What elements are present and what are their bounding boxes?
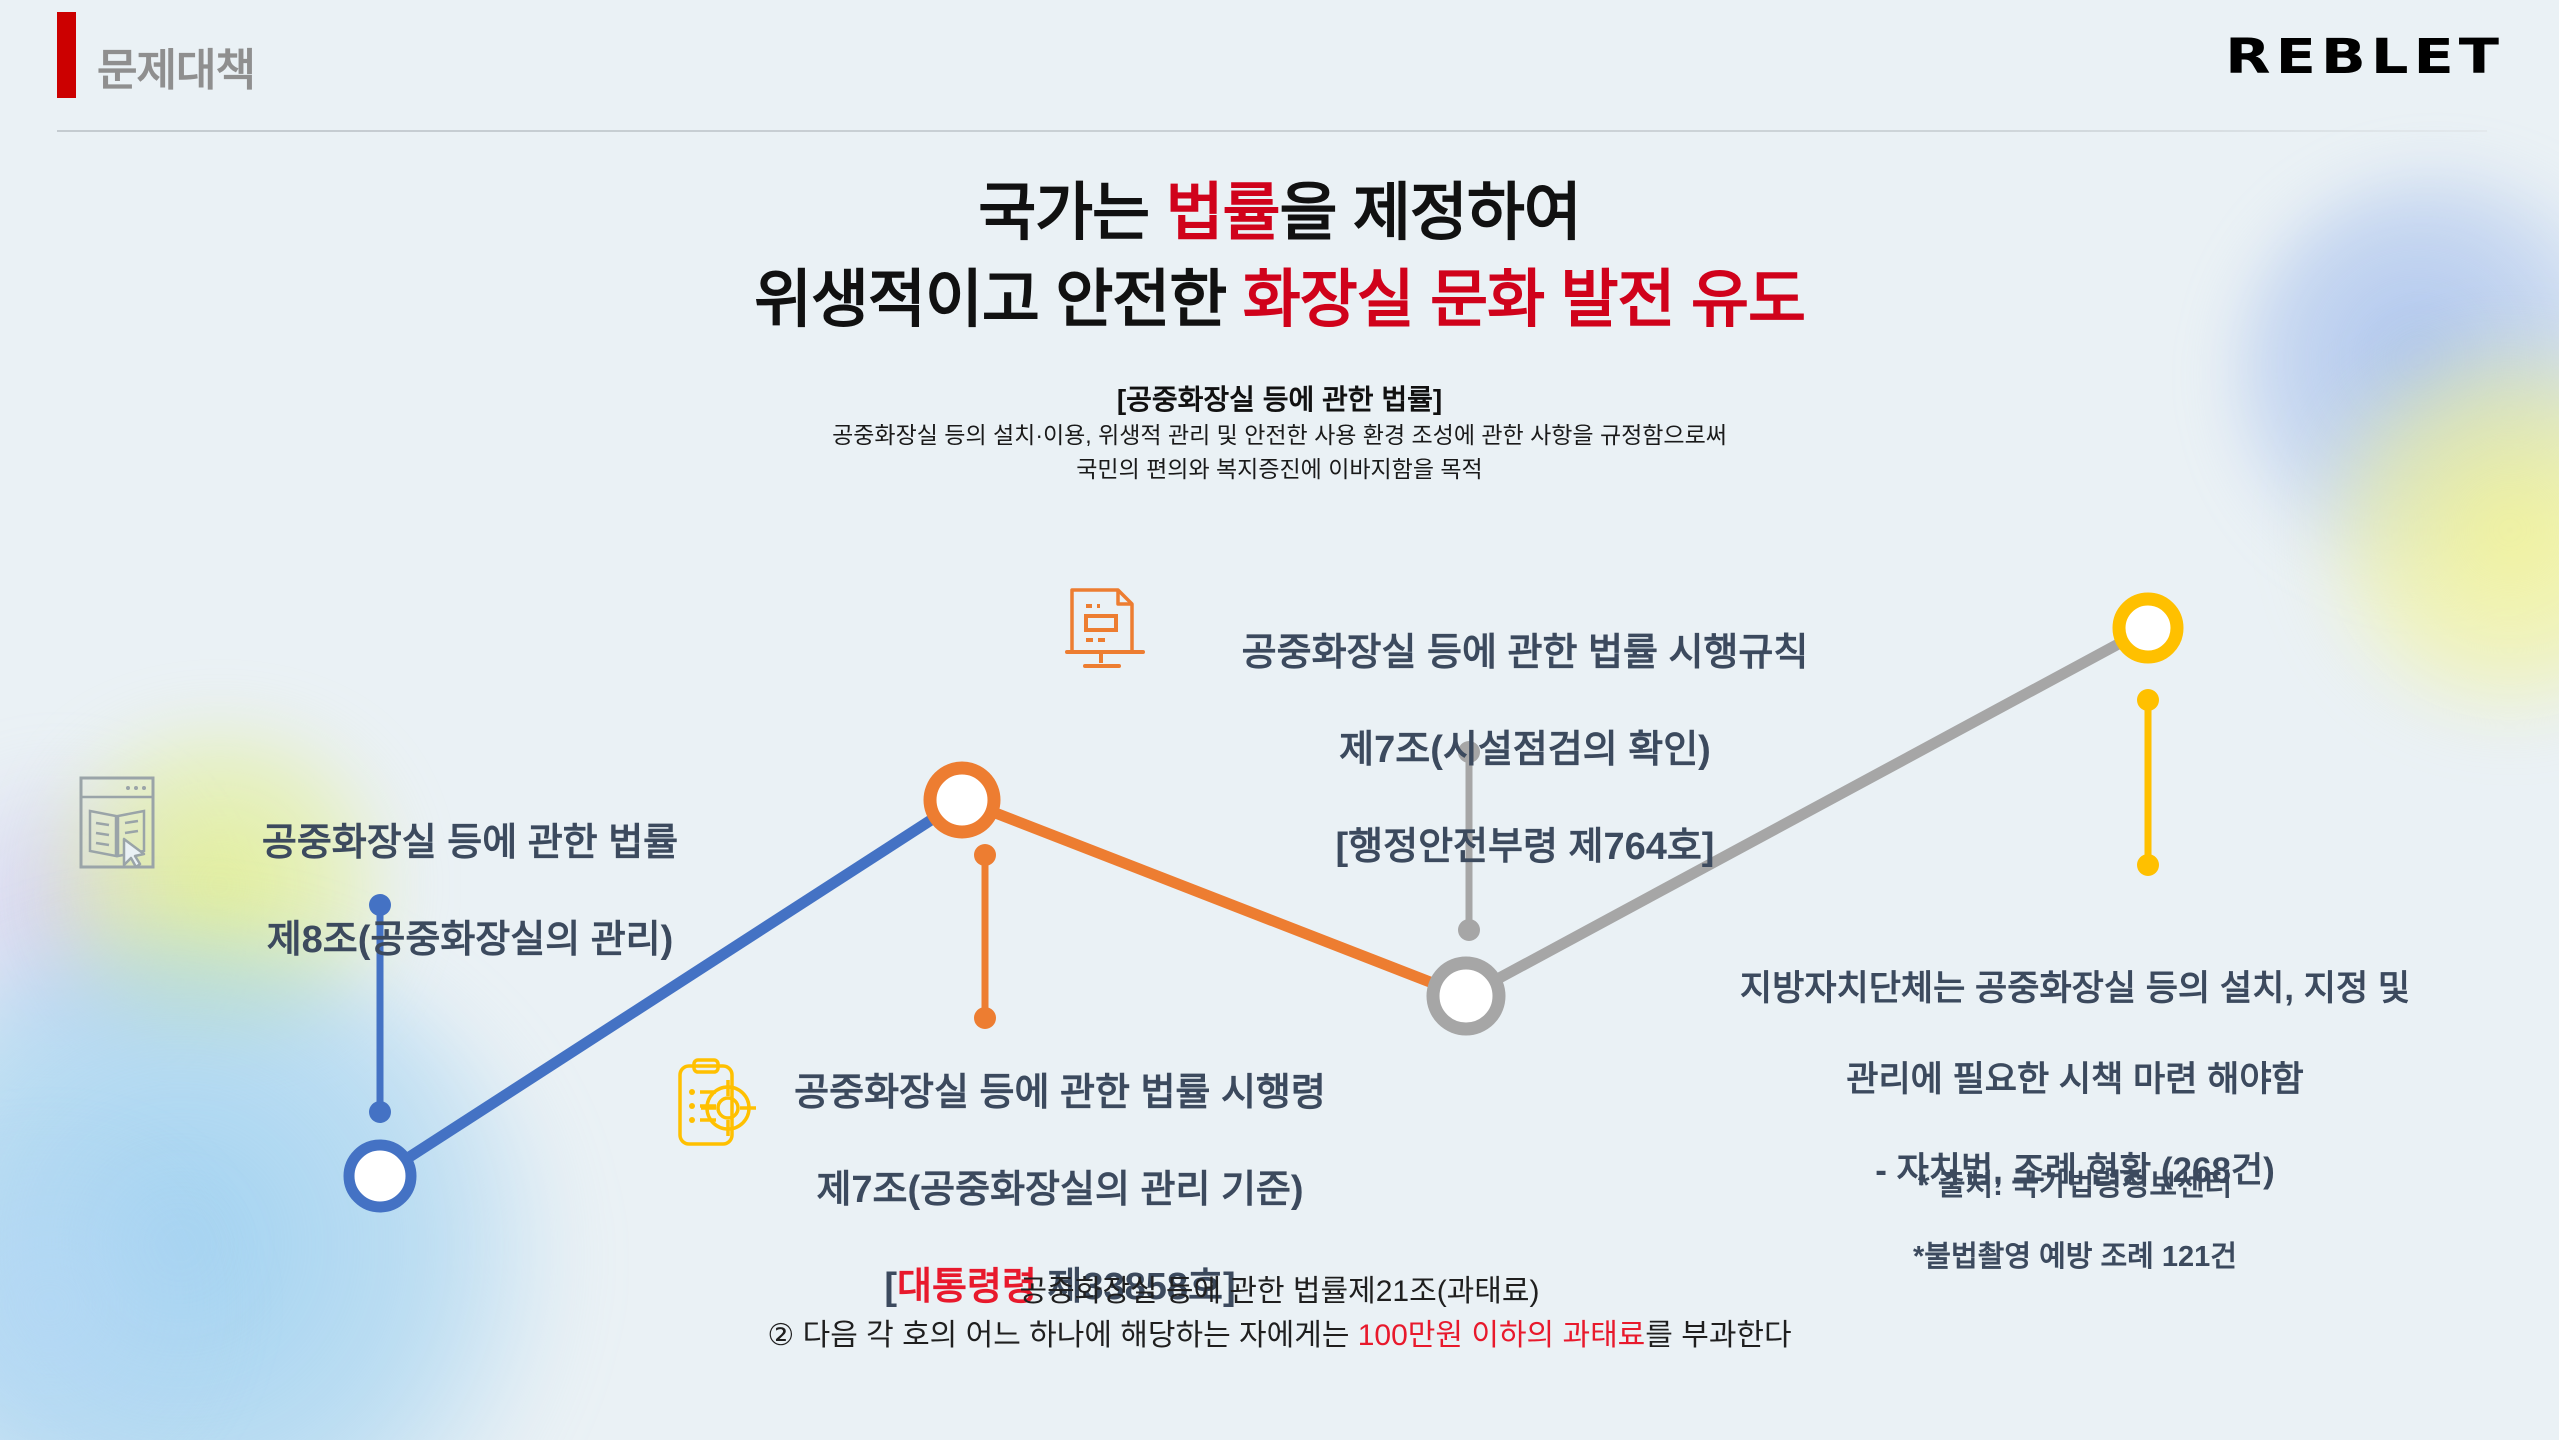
headline-line-2: 위생적이고 안전한 화장실 문화 발전 유도 xyxy=(0,257,2559,344)
header-accent-bar xyxy=(57,12,76,98)
source-note: * 출처: 국가법령정보센터 xyxy=(1610,1160,2540,1204)
law-summary-title: [공중화장실 등에 관한 법률] xyxy=(0,378,2559,418)
node-circle-yellow xyxy=(2119,599,2177,657)
header-divider xyxy=(57,130,2487,132)
headline-l2-a: 위생적이고 안전한 xyxy=(754,265,1243,335)
rule-line-1: 공중화장실 등에 관한 법률 시행규칙 xyxy=(1130,629,1920,678)
page-title: 문제대책 xyxy=(97,34,255,98)
local-line-2: 관리에 필요한 시책 마련 해야함 xyxy=(1610,1057,2540,1103)
pin-dot-gray-bottom xyxy=(1458,919,1480,941)
pin-dot-blue-bottom xyxy=(369,1101,391,1123)
law8-line-2: 제8조(공중화장실의 관리) xyxy=(180,916,760,965)
pin-dot-yellow-top xyxy=(2137,689,2159,711)
law-desc-line-1: 공중화장실 등의 설치·이용, 위생적 관리 및 안전한 사용 환경 조성에 관… xyxy=(0,418,2559,452)
pin-dot-yellow-bottom xyxy=(2137,854,2159,876)
headline-l1-highlight: 법률 xyxy=(1166,178,1280,248)
node-circle-local-gov xyxy=(1433,963,1499,1029)
footnote-line-2: ② 다음 각 호의 어느 하나에 해당하는 자에게는 100만원 이하의 과태료… xyxy=(0,1314,2559,1358)
book-cursor-icon xyxy=(78,775,156,875)
footnote-l2-a: ② 다음 각 호의 어느 하나에 해당하는 자에게는 xyxy=(767,1319,1357,1352)
local-line-1: 지방자치단체는 공중화장실 등의 설치, 지정 및 xyxy=(1610,966,2540,1012)
law8-line-1: 공중화장실 등에 관한 법률 xyxy=(180,819,760,868)
decree-line-2: 제7조(공중화장실의 관리 기준) xyxy=(700,1166,1420,1215)
decree-line-1: 공중화장실 등에 관한 법률 시행령 xyxy=(700,1069,1420,1118)
rule-line-3: [행정안전부령 제764호] xyxy=(1130,823,1920,872)
brand-logo: REBLET xyxy=(2225,28,2504,85)
node-circle-law8 xyxy=(349,1145,411,1207)
node-label-enforcement-rule: 공중화장실 등에 관한 법률 시행규칙 제7조(시설점검의 확인) [행정안전부… xyxy=(1130,580,1920,920)
headline-line-1: 국가는 법률을 제정하여 xyxy=(0,170,2559,257)
law-summary-description: 공중화장실 등의 설치·이용, 위생적 관리 및 안전한 사용 환경 조성에 관… xyxy=(0,418,2559,486)
node-label-law8: 공중화장실 등에 관한 법률 제8조(공중화장실의 관리) xyxy=(180,770,760,1013)
law-desc-line-2: 국민의 편의와 복지증진에 이바지함을 목적 xyxy=(0,452,2559,486)
footnote-line-1: 공중화장실 등에 관한 법률제21조(과태료) xyxy=(0,1270,2559,1314)
pin-dot-orange-top xyxy=(974,844,996,866)
node-circle-enforcement-decree xyxy=(930,768,994,832)
headline-l2-highlight: 화장실 문화 발전 유도 xyxy=(1243,265,1805,335)
node-label-local-government: 지방자치단체는 공중화장실 등의 설치, 지정 및 관리에 필요한 시책 마련 … xyxy=(1610,920,2540,1322)
footnote-l2-b: 를 부과한다 xyxy=(1645,1319,1791,1352)
footnote-highlight: 100만원 이하의 과태료 xyxy=(1358,1319,1646,1352)
headline-l1-a: 국가는 xyxy=(978,178,1165,248)
rule-line-2: 제7조(시설점검의 확인) xyxy=(1130,726,1920,775)
slide-canvas: 문제대책 REBLET 국가는 법률을 제정하여 위생적이고 안전한 화장실 문… xyxy=(0,0,2559,1440)
footnote: 공중화장실 등에 관한 법률제21조(과태료) ② 다음 각 호의 어느 하나에… xyxy=(0,1270,2559,1357)
headline-l1-b: 을 제정하여 xyxy=(1280,178,1581,248)
headline: 국가는 법률을 제정하여 위생적이고 안전한 화장실 문화 발전 유도 xyxy=(0,170,2559,344)
